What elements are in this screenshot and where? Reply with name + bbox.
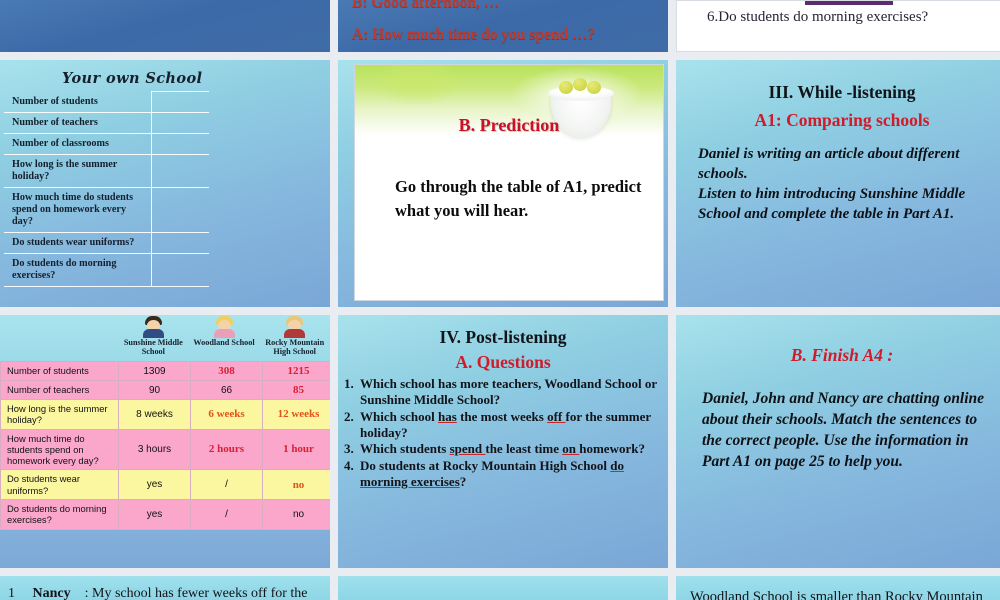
slide-thumb-while-listening[interactable]: III. While -listening A1: Comparing scho… (676, 60, 1000, 307)
underlined-phrase: on (562, 441, 579, 456)
slide-thumb-question-6[interactable]: 6.Do students do morning exercises? (676, 0, 1000, 52)
table-cell: 85 (263, 381, 331, 400)
slide-thumb-blank-cyan[interactable] (338, 576, 668, 600)
question-number: 2. (344, 409, 360, 441)
table-cell: 1 hour (263, 429, 331, 470)
slide-thumb-woodland-sentence[interactable]: Woodland School is smaller than Rocky Mo… (676, 576, 1000, 600)
girl-blonde-avatar (214, 316, 235, 337)
slide-thumb-prediction[interactable]: B. Prediction Go through the table of A1… (338, 60, 668, 307)
slide-thumb-answer-nancy[interactable]: 1 Nancy: My school has fewer weeks off f… (0, 576, 330, 600)
row-label: How long is the summer holiday? (1, 400, 119, 430)
while-listening-body: Daniel is writing an article about diffe… (676, 131, 1000, 225)
answer-blank-nancy: Nancy (19, 586, 85, 600)
school-column-header: Sunshine Middle School (118, 315, 189, 361)
slide-thumb-finish-a4[interactable]: B. Finish A4 : Daniel, John and Nancy ar… (676, 315, 1000, 568)
dialogue-line-a: A: How much time do you spend …? (338, 12, 668, 44)
row-blank-cell[interactable] (151, 113, 209, 134)
answer-sentence: : My school has fewer weeks off for the (85, 586, 308, 600)
finish-a4-body: Daniel, John and Nancy are chatting onli… (676, 366, 1000, 472)
answer-number: 1 (8, 586, 15, 600)
question-text: Which school has the most weeks off for … (360, 409, 660, 441)
row-label: Do students wear uniforms? (1, 470, 119, 500)
comparison-table-header: Sunshine Middle SchoolWoodland SchoolRoc… (0, 315, 330, 361)
woodland-sentence: Woodland School is smaller than Rocky Mo… (676, 576, 1000, 600)
question-number: 1. (344, 376, 360, 408)
row-blank-cell[interactable] (151, 254, 209, 287)
row-blank-cell[interactable] (151, 92, 209, 113)
underlined-phrase: has (438, 409, 457, 424)
your-own-school-title: Your own School (62, 70, 330, 87)
school-column-header: Rocky Mountain High School (259, 315, 330, 361)
question-item: 1.Which school has more teachers, Woodla… (344, 376, 660, 408)
table-cell: 308 (191, 362, 263, 381)
post-listening-heading: IV. Post-listening (338, 315, 668, 348)
underlined-phrase: spend (450, 441, 486, 456)
table-cell: yes (119, 470, 191, 500)
table-row: How much time do students spend on homew… (1, 429, 331, 470)
slide-thumb-blank-blue[interactable] (0, 0, 330, 52)
table-row: Number of teachers906685 (1, 381, 331, 400)
question-item: 2.Which school has the most weeks off fo… (344, 409, 660, 441)
row-blank-cell[interactable] (151, 188, 209, 233)
row-label: Do students do morning exercises? (4, 254, 151, 287)
table-cell: no (263, 499, 331, 529)
your-own-school-row: Do students do morning exercises? (4, 254, 209, 287)
finish-a4-heading: B. Finish A4 : (676, 315, 1000, 366)
table-cell: 66 (191, 381, 263, 400)
table-cell: 1215 (263, 362, 331, 381)
question-text: Which school has more teachers, Woodland… (360, 376, 660, 408)
question-item: 3.Which students spend the least time on… (344, 441, 660, 457)
row-label: How much time do students spend on homew… (4, 188, 151, 233)
row-label: Number of students (1, 362, 119, 381)
school-name-label: Woodland School (189, 338, 260, 347)
your-own-school-row: How much time do students spend on homew… (4, 188, 209, 233)
table-cell: 1309 (119, 362, 191, 381)
question-number: 3. (344, 441, 360, 457)
table-cell: no (263, 470, 331, 500)
table-cell: 3 hours (119, 429, 191, 470)
your-own-school-row: How long is the summer holiday? (4, 155, 209, 188)
table-cell: 12 weeks (263, 400, 331, 430)
table-cell: / (191, 499, 263, 529)
comparing-schools-subheading: A1: Comparing schools (676, 103, 1000, 131)
slide-thumb-your-own-school[interactable]: Your own School Number of students Numbe… (0, 60, 330, 307)
slide-thumb-dialogue[interactable]: B: Good afternoon, … A: How much time do… (338, 0, 668, 52)
question-text: Which students spend the least time on h… (360, 441, 660, 457)
table-row: Number of students13093081215 (1, 362, 331, 381)
table-row: Do students do morning exercises?yes/no (1, 499, 331, 529)
your-own-school-row: Number of classrooms (4, 134, 209, 155)
school-name-label: Sunshine Middle School (118, 338, 189, 356)
your-own-school-row: Do students wear uniforms? (4, 233, 209, 254)
table-cell: 90 (119, 381, 191, 400)
question-item: 4.Do students at Rocky Mountain High Sch… (344, 458, 660, 490)
table-row: How long is the summer holiday?8 weeks6 … (1, 400, 331, 430)
table-cell: / (191, 470, 263, 500)
row-label: Number of students (4, 92, 151, 113)
your-own-school-table: Number of students Number of teachers Nu… (4, 91, 209, 287)
underlined-phrase: off (547, 409, 565, 424)
slide-thumb-post-listening[interactable]: IV. Post-listening A. Questions 1.Which … (338, 315, 668, 568)
row-blank-cell[interactable] (151, 155, 209, 188)
questions-subheading: A. Questions (338, 348, 668, 373)
your-own-school-row: Number of students (4, 92, 209, 113)
answer-line-1: 1 Nancy: My school has fewer weeks off f… (0, 576, 330, 600)
table-cell: 6 weeks (191, 400, 263, 430)
row-label: Number of teachers (1, 381, 119, 400)
table-cell: 2 hours (191, 429, 263, 470)
question-number: 4. (344, 458, 360, 490)
row-label: How much time do students spend on homew… (1, 429, 119, 470)
school-name-label: Rocky Mountain High School (259, 338, 330, 356)
row-blank-cell[interactable] (151, 134, 209, 155)
purple-underline-mark (805, 1, 893, 5)
boy-dark-hair-avatar (143, 316, 164, 337)
comparison-table: Number of students13093081215Number of t… (0, 361, 330, 530)
while-listening-heading: III. While -listening (676, 60, 1000, 103)
school-column-header: Woodland School (189, 315, 260, 361)
row-label: Do students wear uniforms? (4, 233, 151, 254)
row-blank-cell[interactable] (151, 233, 209, 254)
row-label: Do students do morning exercises? (1, 499, 119, 529)
table-cell: yes (119, 499, 191, 529)
question-text: Do students at Rocky Mountain High Schoo… (360, 458, 660, 490)
row-label: How long is the summer holiday? (4, 155, 151, 188)
table-row: Do students wear uniforms?yes/no (1, 470, 331, 500)
row-label: Number of classrooms (4, 134, 151, 155)
your-own-school-row: Number of teachers (4, 113, 209, 134)
slide-thumbnail-grid: B: Good afternoon, … A: How much time do… (0, 0, 1000, 600)
dialogue-line-b: B: Good afternoon, … (338, 0, 668, 12)
row-label: Number of teachers (4, 113, 151, 134)
boy-blonde-avatar (284, 316, 305, 337)
slide-thumb-comparison-table[interactable]: Sunshine Middle SchoolWoodland SchoolRoc… (0, 315, 330, 568)
question-6-text: 6.Do students do morning exercises? (707, 9, 928, 26)
table-cell: 8 weeks (119, 400, 191, 430)
questions-list: 1.Which school has more teachers, Woodla… (338, 373, 668, 490)
prediction-title: B. Prediction (355, 115, 663, 136)
prediction-body: Go through the table of A1, predict what… (395, 175, 643, 223)
bowl-of-fruit-photo (355, 65, 663, 151)
